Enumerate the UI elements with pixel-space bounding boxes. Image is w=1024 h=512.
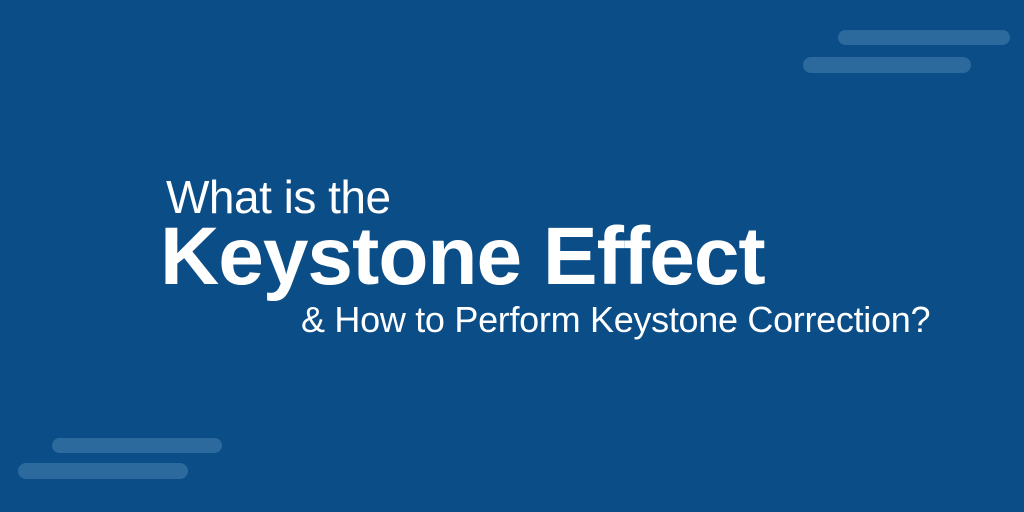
headline-subtitle: & How to Perform Keystone Correction? bbox=[301, 302, 930, 338]
page-title: Keystone Effect bbox=[160, 216, 765, 298]
headline-block: What is the Keystone Effect & How to Per… bbox=[0, 0, 1024, 512]
banner-canvas: What is the Keystone Effect & How to Per… bbox=[0, 0, 1024, 512]
